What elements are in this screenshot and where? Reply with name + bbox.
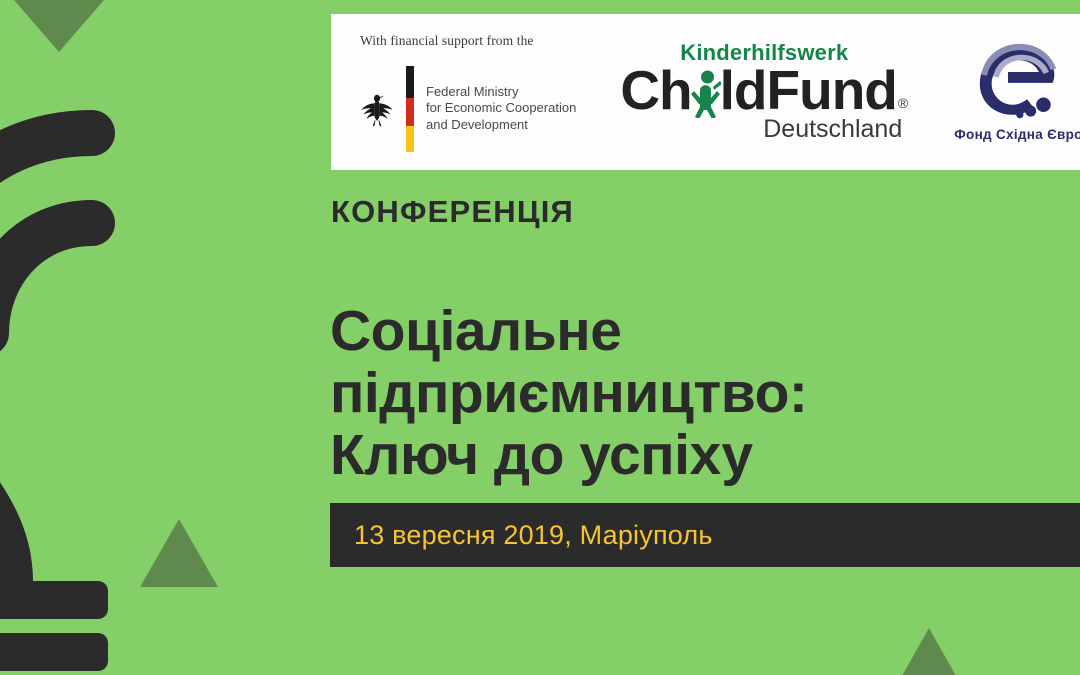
bmz-name-line-1: Federal Ministry <box>426 84 576 101</box>
childfund-name-part-1: Ch <box>620 65 691 116</box>
childfund-logo: Kinderhilfswerk Ch ldFund ® Deutschland <box>620 42 908 142</box>
bmz-ministry-name: Federal Ministry for Economic Cooperatio… <box>426 84 576 134</box>
bmz-name-line-3: and Development <box>426 117 576 134</box>
lightbulb-icon <box>0 95 302 675</box>
triangle-bottom-right <box>898 628 960 675</box>
childfund-name-part-2: ldFund <box>720 65 897 116</box>
german-flag-bar-icon <box>406 66 414 152</box>
bmz-support-line: With financial support from the <box>360 33 576 49</box>
triangle-top-left <box>14 0 104 52</box>
childfund-person-icon <box>691 70 721 118</box>
bmz-logo: With financial support from the Fe <box>331 33 586 152</box>
registered-trademark-icon: ® <box>898 96 908 116</box>
german-eagle-icon <box>360 90 394 128</box>
east-europe-foundation-caption: Фонд Східна Євро <box>954 127 1080 142</box>
date-location-text: 13 вересня 2019, Маріуполь <box>330 520 713 551</box>
event-type-kicker: КОНФЕРЕНЦІЯ <box>331 196 574 227</box>
sponsor-logo-banner: With financial support from the Fe <box>331 14 1080 170</box>
date-location-banner: 13 вересня 2019, Маріуполь <box>330 503 1080 567</box>
bmz-name-line-2: for Economic Cooperation <box>426 100 576 117</box>
triangle-middle-left <box>140 519 218 587</box>
east-europe-foundation-e-icon <box>972 42 1064 122</box>
east-europe-foundation-logo: Фонд Східна Євро <box>954 42 1080 142</box>
page-title: Соціальне підприємництво: Ключ до успіху <box>330 300 807 486</box>
conference-poster: With financial support from the Fe <box>0 0 1080 675</box>
